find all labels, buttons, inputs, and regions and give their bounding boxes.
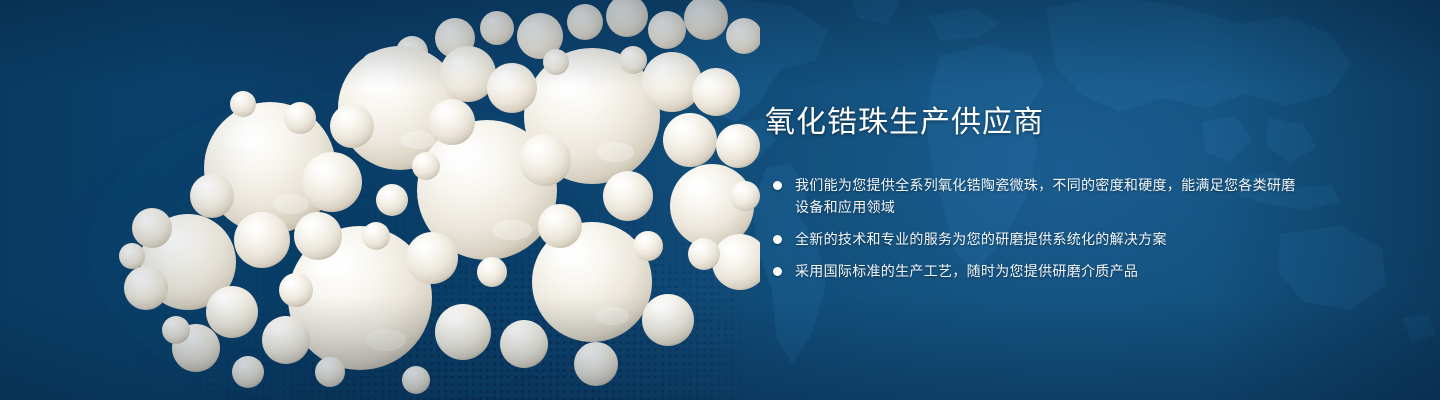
- hero-banner: 氧化锆珠生产供应商 我们能为您提供全系列氧化锆陶瓷微珠，不同的密度和硬度，能满足…: [0, 0, 1440, 400]
- bullet-dot-icon: [773, 235, 782, 244]
- bullet-dot-icon: [773, 267, 782, 276]
- bullet-dot-icon: [773, 181, 782, 190]
- feature-list: 我们能为您提供全系列氧化锆陶瓷微珠，不同的密度和硬度，能满足您各类研磨设备和应用…: [765, 174, 1305, 283]
- list-item: 我们能为您提供全系列氧化锆陶瓷微珠，不同的密度和硬度，能满足您各类研磨设备和应用…: [765, 174, 1305, 219]
- list-item-text: 我们能为您提供全系列氧化锆陶瓷微珠，不同的密度和硬度，能满足您各类研磨设备和应用…: [795, 174, 1305, 219]
- page-title: 氧化锆珠生产供应商: [765, 104, 1305, 142]
- list-item-text: 采用国际标准的生产工艺，随时为您提供研磨介质产品: [795, 260, 1305, 283]
- list-item: 采用国际标准的生产工艺，随时为您提供研磨介质产品: [765, 260, 1305, 283]
- banner-copy: 氧化锆珠生产供应商 我们能为您提供全系列氧化锆陶瓷微珠，不同的密度和硬度，能满足…: [765, 104, 1305, 282]
- list-item: 全新的技术和专业的服务为您的研磨提供系统化的解决方案: [765, 228, 1305, 251]
- list-item-text: 全新的技术和专业的服务为您的研磨提供系统化的解决方案: [795, 228, 1305, 251]
